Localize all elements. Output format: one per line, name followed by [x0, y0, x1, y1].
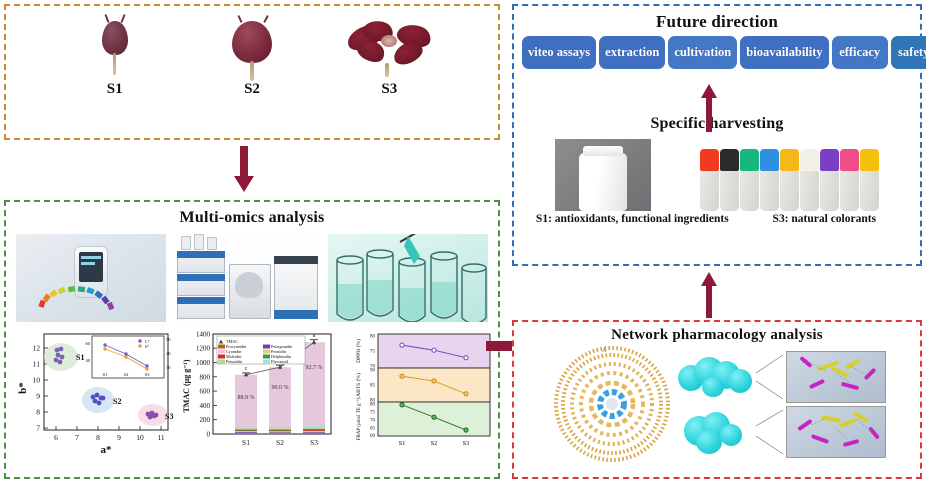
protein-structure-top [676, 351, 754, 403]
svg-text:600: 600 [200, 388, 211, 396]
svg-text:85: 85 [370, 384, 376, 389]
svg-text:200: 200 [200, 416, 211, 424]
white-jar-image [555, 139, 651, 211]
svg-text:S2: S2 [431, 440, 438, 447]
future-title: Future direction [514, 12, 920, 32]
arrow-up-network-to-harvest [700, 272, 718, 318]
svg-text:1200: 1200 [196, 345, 211, 353]
chart-color-space-scatter: 7 8 9 10 11 12 67 89 [14, 326, 177, 464]
svg-text:a: a [313, 333, 316, 339]
svg-text:6: 6 [54, 433, 58, 442]
panel-sample-stages: S1 S2 S3 [4, 4, 500, 140]
panel-abts: 908580 ABTS (%) [355, 368, 490, 404]
svg-text:Flavonoid: Flavonoid [271, 359, 289, 364]
network-panel-letter: A [602, 348, 606, 354]
docking-zoom-bottom [786, 406, 886, 458]
leader-lines-top [756, 351, 784, 403]
svg-text:S1: S1 [103, 372, 108, 377]
protein-structure-bottom [676, 408, 754, 456]
svg-text:S3: S3 [463, 440, 470, 447]
pill-cultivation[interactable]: cultivation [668, 36, 737, 69]
svg-text:800: 800 [200, 373, 211, 381]
svg-text:65: 65 [370, 427, 376, 432]
bar-s3 [303, 342, 325, 434]
pill-extraction[interactable]: extraction [599, 36, 665, 69]
instrument-colorimeter [16, 234, 166, 322]
svg-text:0: 0 [207, 431, 211, 439]
svg-text:ABTS (%): ABTS (%) [355, 373, 362, 397]
svg-text:FRAP (µmol TE g⁻¹): FRAP (µmol TE g⁻¹) [356, 397, 362, 440]
svg-text:S3: S3 [310, 438, 318, 447]
caption-s1-use: S1: antioxidants, functional ingredients [536, 213, 729, 225]
scatter-ylabel: b* [17, 382, 29, 394]
omics-title: Multi-omics analysis [6, 209, 498, 227]
svg-text:10: 10 [136, 433, 144, 442]
bar-percent-s1: 88.9 % [238, 395, 255, 401]
svg-text:75: 75 [370, 350, 376, 355]
svg-text:50: 50 [166, 337, 171, 342]
svg-text:b*: b* [145, 344, 149, 349]
svg-text:9: 9 [117, 433, 121, 442]
panel-multi-omics: Multi-omics analysis [4, 200, 500, 479]
svg-text:1000: 1000 [196, 359, 211, 367]
graphical-abstract: S1 S2 S3 Multi-om [0, 0, 926, 483]
pill-safety[interactable]: safety [891, 36, 926, 69]
svg-text:7: 7 [36, 424, 40, 433]
network-title: Network pharmacology analysis [514, 327, 920, 344]
panel-network-pharmacology: Network pharmacology analysis [512, 320, 922, 479]
flower-bud-icon [55, 21, 175, 79]
bar-legend: TMAC Procyanidin Cyanidin Malvidin Petun… [217, 336, 305, 364]
pill-efficacy[interactable]: efficacy [832, 36, 888, 69]
harvest-images [514, 133, 920, 211]
svg-text:S2: S2 [276, 438, 284, 447]
chart-tmac-stacked-bar: 0 200 400 600 800 1000 1200 1400 [179, 326, 336, 464]
bar-ylabel: TMAC (µg g⁻¹) [182, 359, 191, 412]
sample-row: S1 S2 S3 [6, 6, 498, 98]
svg-text:30: 30 [166, 365, 171, 370]
svg-text:8: 8 [96, 433, 100, 442]
svg-text:90: 90 [370, 369, 376, 374]
flower-halfopen-icon [192, 21, 312, 79]
svg-text:75: 75 [370, 411, 376, 416]
svg-text:DPPH (%): DPPH (%) [355, 339, 362, 363]
omics-charts-row: 7 8 9 10 11 12 67 89 [6, 322, 498, 462]
scatter-xlabel: a* [101, 444, 113, 456]
docking-zoom-top [786, 351, 886, 403]
pill-viteo-assays[interactable]: viteo assays [522, 36, 596, 69]
svg-text:1400: 1400 [196, 330, 211, 338]
svg-text:Petunidin: Petunidin [226, 359, 243, 364]
panel-frap: 8075 706560 FRAP (µmol TE g⁻¹) [356, 397, 490, 440]
cluster-label-s3: S3 [165, 412, 173, 421]
sample-item-s2: S2 [192, 21, 312, 98]
sample-item-s1: S1 [55, 21, 175, 98]
future-pill-row: viteo assays extraction cultivation bioa… [514, 32, 920, 69]
svg-text:40: 40 [86, 358, 91, 363]
svg-text:S1: S1 [399, 440, 406, 447]
pill-bioavailability[interactable]: bioavailability [740, 36, 828, 69]
cluster-label-s1: S1 [76, 353, 84, 362]
svg-text:80: 80 [370, 403, 376, 408]
svg-text:12: 12 [33, 344, 41, 353]
svg-text:8: 8 [36, 408, 40, 417]
leader-lines-bottom [756, 406, 784, 458]
harvest-captions: S1: antioxidants, functional ingredients… [514, 211, 920, 225]
sample-label-s1: S1 [55, 81, 175, 98]
svg-text:60: 60 [370, 434, 376, 439]
svg-text:9: 9 [36, 392, 40, 401]
svg-text:S2: S2 [124, 372, 129, 377]
instrument-lc-ms [175, 234, 320, 322]
sample-label-s2: S2 [192, 81, 312, 98]
bar-s2 [269, 367, 291, 434]
chart-antioxidant-panels: 807570 DPPH (%) 908580 [338, 326, 501, 464]
arrow-up-harvest-to-future [700, 84, 718, 132]
svg-text:11: 11 [33, 360, 40, 369]
svg-text:400: 400 [200, 402, 211, 410]
sample-label-s3: S3 [329, 81, 449, 98]
arrow-down-samples-to-omics [233, 146, 255, 194]
cluster-label-s2: S2 [113, 397, 121, 406]
svg-text:11: 11 [157, 433, 164, 442]
svg-text:S1: S1 [242, 438, 250, 447]
svg-text:70: 70 [370, 419, 376, 424]
svg-text:S3: S3 [145, 372, 151, 377]
scatter-inset: 60 40 50 40 30 S1S2S3 L* [86, 336, 172, 378]
network-hub-diagram [552, 344, 672, 464]
svg-text:40: 40 [166, 351, 171, 356]
svg-text:60: 60 [86, 341, 91, 346]
network-visuals [514, 344, 920, 464]
svg-text:7: 7 [75, 433, 79, 442]
flower-bloom-icon [329, 21, 449, 79]
svg-text:80: 80 [370, 335, 376, 340]
svg-text:c: c [245, 366, 248, 372]
panel-dpph: 807570 DPPH (%) [355, 334, 490, 370]
caption-s3-use: S3: natural colorants [773, 213, 877, 225]
svg-text:10: 10 [33, 376, 41, 385]
instrument-test-tubes [328, 234, 488, 322]
bar-percent-s2: 90.0 % [272, 385, 289, 391]
bar-s1 [235, 375, 257, 434]
bar-percent-s3: 92.7 % [306, 365, 323, 371]
panel-future-direction: Future direction viteo assays extraction… [512, 4, 922, 266]
colorant-bottles-image [700, 149, 879, 211]
sample-item-s3: S3 [329, 21, 449, 98]
